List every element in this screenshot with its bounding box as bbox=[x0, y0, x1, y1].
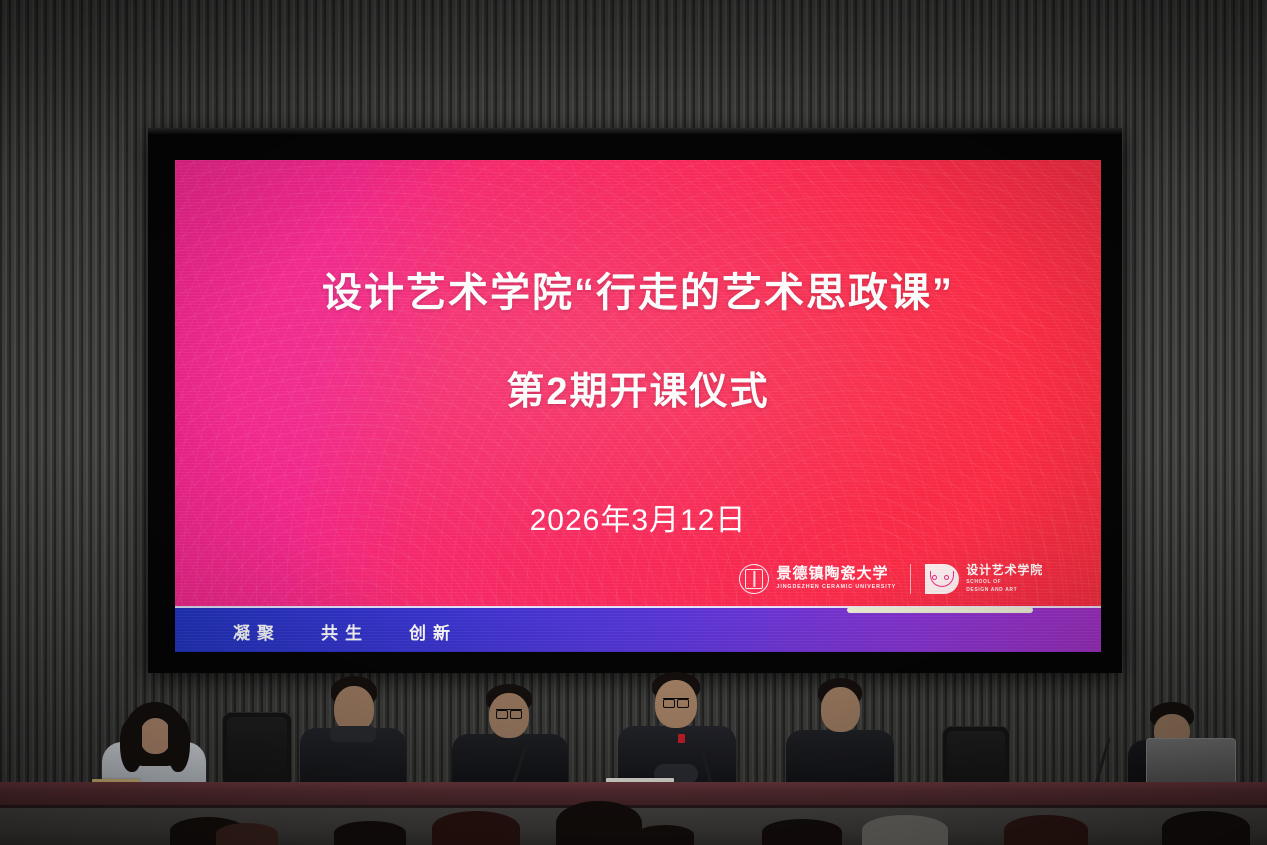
person-hair-right bbox=[168, 718, 190, 772]
person-collar bbox=[330, 726, 376, 742]
person-head bbox=[140, 718, 171, 754]
audience-head-5 bbox=[556, 801, 642, 845]
audience-head-3 bbox=[334, 821, 406, 845]
presentation-display: 设计艺术学院“行走的艺术思政课” 第2期开课仪式 2026年3月12日 景德镇陶… bbox=[148, 128, 1122, 673]
conference-hall-photo: 设计艺术学院“行走的艺术思政课” 第2期开课仪式 2026年3月12日 景德镇陶… bbox=[0, 0, 1267, 845]
seat-2-empty-chair bbox=[222, 712, 292, 788]
seat-6-man-dark-coat bbox=[786, 678, 894, 788]
audience-head-9 bbox=[1004, 815, 1088, 845]
seat-1-woman-white-jacket bbox=[98, 700, 210, 788]
red-lapel-badge bbox=[678, 734, 685, 743]
person-torso bbox=[786, 730, 894, 788]
presentation-screen: 设计艺术学院“行走的艺术思政课” 第2期开课仪式 2026年3月12日 景德镇陶… bbox=[175, 160, 1101, 652]
laptop-screen[interactable] bbox=[1146, 738, 1236, 784]
person-head bbox=[821, 687, 860, 732]
audience-head-4 bbox=[432, 811, 520, 845]
glasses-icon bbox=[663, 698, 689, 705]
seat-4-man-glasses bbox=[452, 684, 568, 788]
person-torso bbox=[452, 734, 568, 788]
audience-head-2 bbox=[216, 823, 278, 845]
seat-3-man-dark-jacket bbox=[300, 676, 406, 788]
screen-scanlines bbox=[175, 160, 1101, 652]
audience-head-10 bbox=[1162, 811, 1250, 845]
seat-7-empty-chair bbox=[942, 726, 1010, 788]
audience-head-7 bbox=[762, 819, 842, 845]
audience-head-8 bbox=[862, 815, 948, 845]
seat-5-speaker-center bbox=[618, 672, 736, 788]
glasses-icon bbox=[496, 709, 522, 716]
bezel-highlight bbox=[148, 128, 1122, 134]
person-hair-left bbox=[120, 720, 142, 772]
audience-head-6 bbox=[636, 825, 694, 845]
